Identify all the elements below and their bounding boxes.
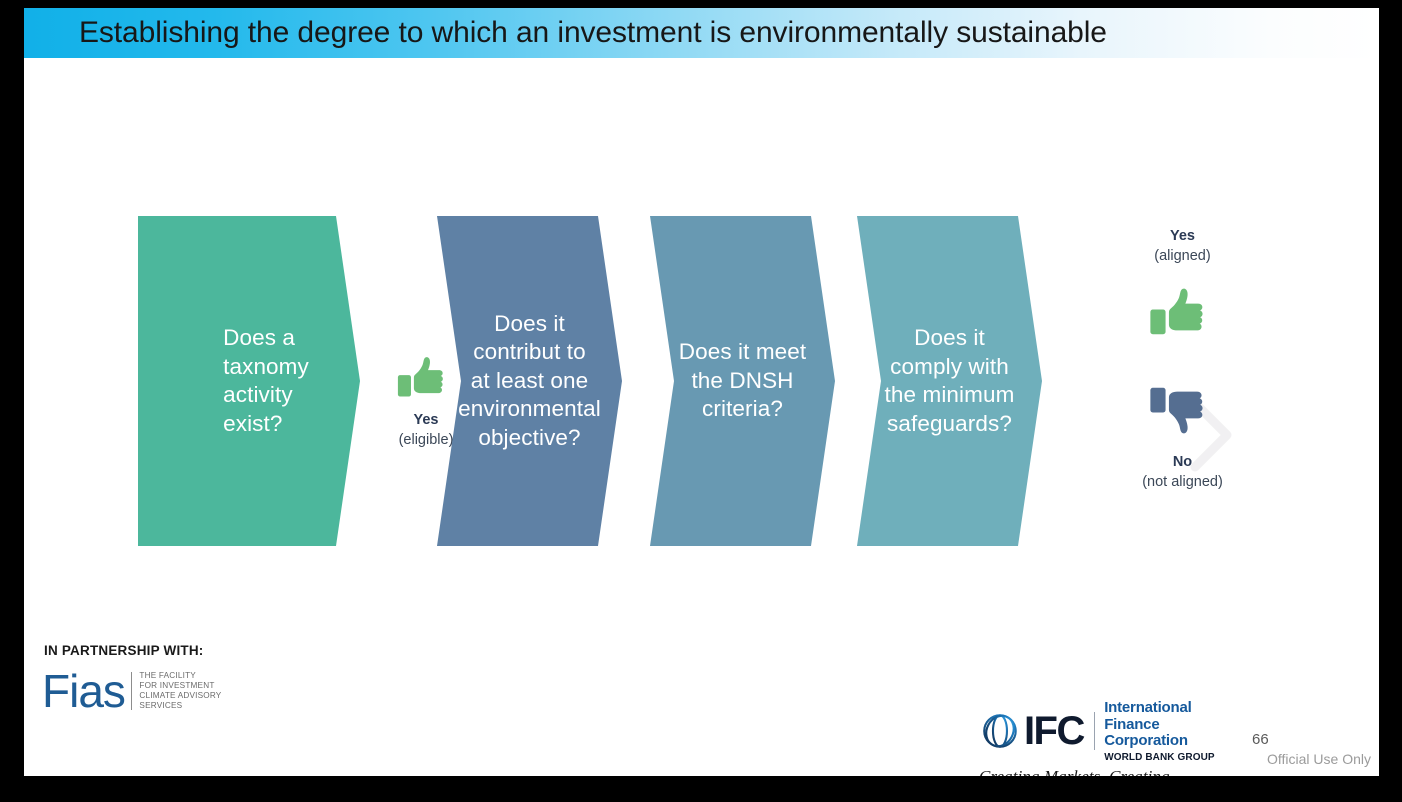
globe-icon [979,707,1021,755]
fias-logo: Fias THE FACILITY FOR INVESTMENT CLIMATE… [42,668,221,714]
fias-tagline-line: FOR INVESTMENT [139,681,221,691]
thumbs-down-icon [1090,372,1275,444]
fias-tagline-line: THE FACILITY [139,671,221,681]
flow-step-minimum-safeguards[interactable]: Does itcomply withthe minimumsafeguards? [857,216,1042,546]
flow-step-dnsh-criteria[interactable]: Does it meetthe DNSHcriteria? [650,216,835,546]
ifc-name-line-1: International [1104,700,1229,717]
page-title: Establishing the degree to which an inve… [79,8,1107,58]
outcome-group: Yes (aligned) [1090,226,1275,492]
thumbs-down-glyph [1147,372,1219,444]
fias-tagline: THE FACILITY FOR INVESTMENT CLIMATE ADVI… [139,671,221,712]
decision-flow-diagram: Does ataxnomyactivityexist? Yes (eligibl… [24,58,1379,678]
fias-divider [131,672,133,710]
thumbs-up-glyph [1147,278,1219,350]
flow-step-taxonomy-activity[interactable]: Does ataxnomyactivityexist? [138,216,360,546]
outcome-word: No [1090,452,1275,472]
flow-step-label: Does itcomply withthe minimumsafeguards? [877,324,1023,438]
fias-tagline-line: SERVICES [139,701,221,711]
ifc-wordmark: IFC [1024,711,1084,751]
ifc-full-name: International Finance Corporation [1104,700,1229,750]
slide-canvas: Establishing the degree to which an inve… [24,8,1379,776]
outcome-sub: (aligned) [1090,246,1275,266]
fias-wordmark: Fias [42,668,125,714]
flow-step-label: Does ataxnomyactivityexist? [181,324,317,438]
use-restriction-label: Official Use Only [1267,751,1371,767]
ifc-divider [1094,712,1095,750]
ifc-name-line-2: Finance Corporation [1104,717,1229,750]
ifc-logo: IFC International Finance Corporation WO… [979,700,1229,776]
flow-step-environmental-objective[interactable]: Does itcontribut toat least oneenvironme… [437,216,622,546]
thumbs-up-icon [1090,278,1275,350]
outcome-word: Yes [1090,226,1275,246]
flow-step-label: Does it meetthe DNSHcriteria? [671,338,815,424]
page-number: 66 [1252,731,1269,748]
fias-tagline-line: CLIMATE ADVISORY [139,691,221,701]
outcome-sub: (not aligned) [1090,472,1275,492]
flow-step-label: Does itcontribut toat least oneenvironme… [450,310,609,453]
partnership-label: IN PARTNERSHIP WITH: [44,643,204,658]
title-band: Establishing the degree to which an inve… [24,8,1379,58]
ifc-world-bank-group: WORLD BANK GROUP [1104,752,1229,763]
ifc-tagline: Creating Markets, Creating Opportunities [979,767,1229,777]
outcome-no-not-aligned: No (not aligned) [1090,372,1275,492]
outcome-yes-aligned: Yes (aligned) [1090,226,1275,350]
